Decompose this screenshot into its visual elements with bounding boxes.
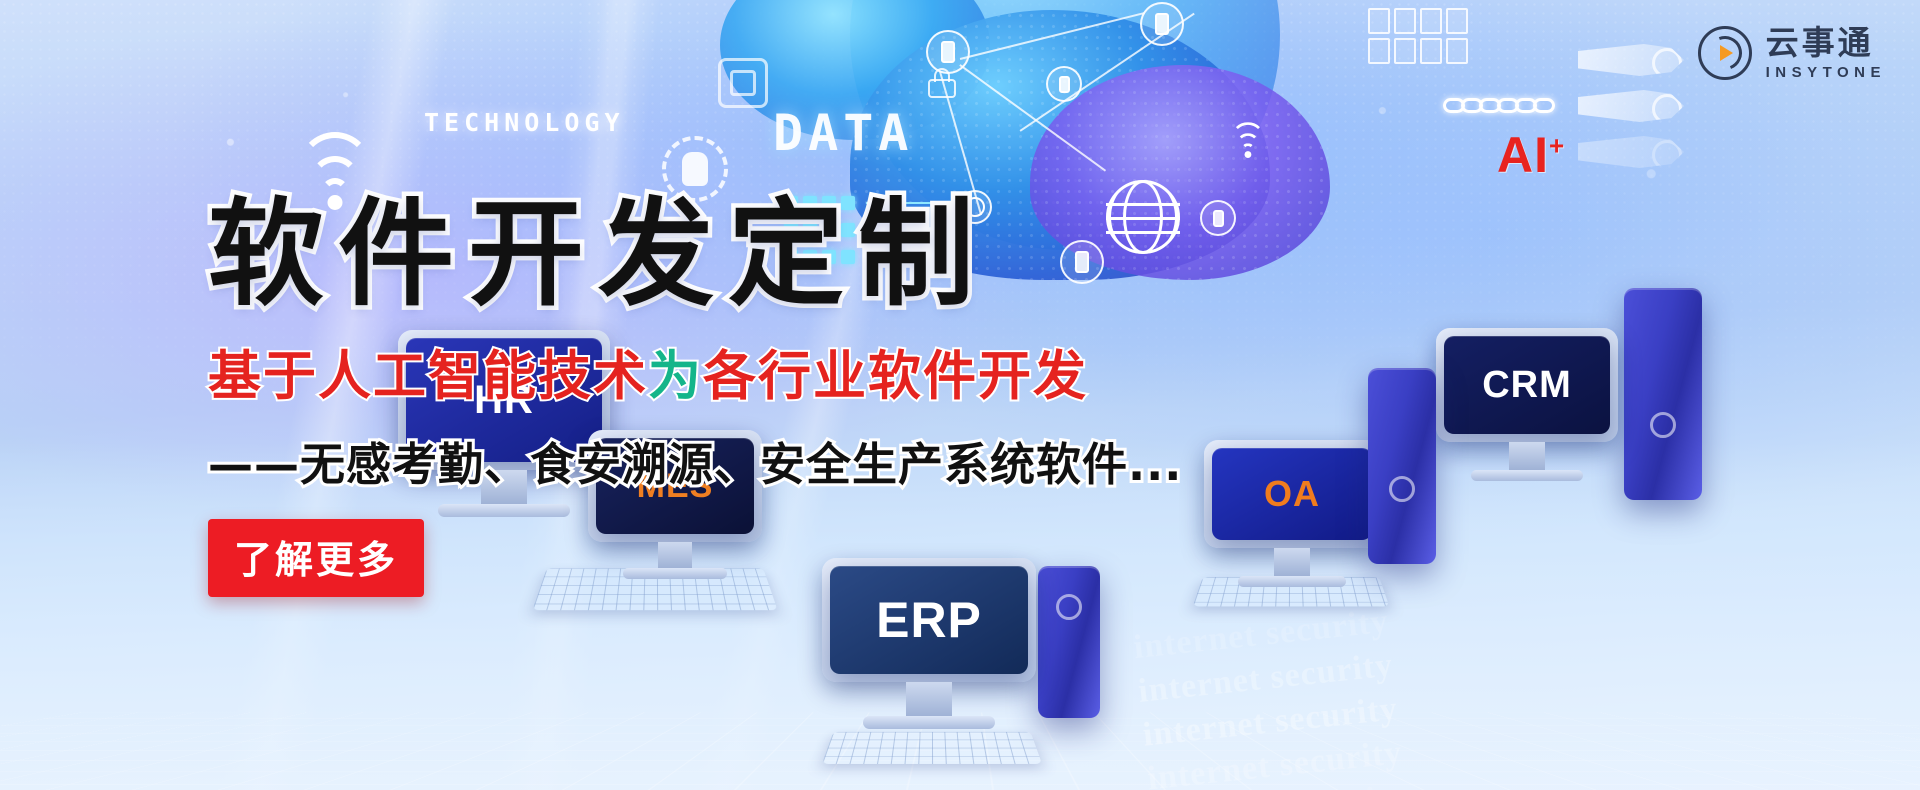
tower-crm bbox=[1624, 288, 1702, 500]
headline: 软件开发定制 bbox=[208, 196, 1288, 314]
ai-superscript: + bbox=[1549, 130, 1565, 160]
logo-name-en: INSYTONE bbox=[1766, 65, 1886, 80]
subtitle-part-2: 各行业软件开发 bbox=[703, 346, 1088, 407]
ai-plus-label: AI+ bbox=[1497, 126, 1565, 184]
device-crm: CRM bbox=[1436, 328, 1618, 481]
watermark-line: internet security bbox=[1141, 631, 1920, 755]
promo-banner: AI+ TECHNOLOGY DATA HR MES ERP OA bbox=[0, 0, 1920, 790]
technology-label: TECHNOLOGY bbox=[424, 108, 625, 137]
data-label: DATA bbox=[773, 104, 913, 162]
tower-oa bbox=[1368, 368, 1436, 564]
block-grid-decor bbox=[1368, 8, 1468, 64]
watermark-line: internet security bbox=[1150, 719, 1920, 790]
keyboard-erp bbox=[822, 732, 1042, 764]
copy-block: 软件开发定制 基于人工智能技术为各行业软件开发 ——无感考勤、食安溯源、安全生产… bbox=[208, 196, 1288, 597]
brand-logo[interactable]: 云事通 INSYTONE bbox=[1698, 26, 1886, 80]
network-node-phone bbox=[1140, 2, 1184, 46]
wifi-icon-small bbox=[1230, 129, 1266, 158]
crm-stand bbox=[1509, 442, 1545, 470]
ai-label-text: AI bbox=[1497, 127, 1549, 183]
play-triangle-icon bbox=[1720, 45, 1733, 61]
watermark-line: internet security bbox=[1146, 675, 1920, 790]
subtitle: 基于人工智能技术为各行业软件开发 bbox=[208, 334, 1288, 410]
chain-link-icon bbox=[1448, 98, 1555, 113]
subtitle-part-1: 基于人工智能技术 bbox=[208, 346, 648, 407]
hud-decor bbox=[1578, 44, 1684, 168]
chip-icon bbox=[718, 58, 768, 108]
subtitle-accent: 为 bbox=[648, 346, 703, 407]
tagline: ——无感考勤、食安溯源、安全生产系统软件... bbox=[208, 428, 1288, 493]
network-node-phone bbox=[1046, 66, 1082, 102]
crm-monitor-bezel: CRM bbox=[1436, 328, 1618, 442]
crm-base bbox=[1471, 470, 1583, 481]
crm-screen-label: CRM bbox=[1444, 336, 1610, 434]
logo-name-cn: 云事通 bbox=[1766, 26, 1886, 59]
erp-stand bbox=[906, 682, 952, 716]
logo-swirl-icon bbox=[1698, 26, 1752, 80]
logo-text: 云事通 INSYTONE bbox=[1766, 26, 1886, 80]
learn-more-button[interactable]: 了解更多 bbox=[208, 519, 424, 597]
lock-icon bbox=[928, 68, 956, 98]
erp-base bbox=[863, 716, 995, 729]
